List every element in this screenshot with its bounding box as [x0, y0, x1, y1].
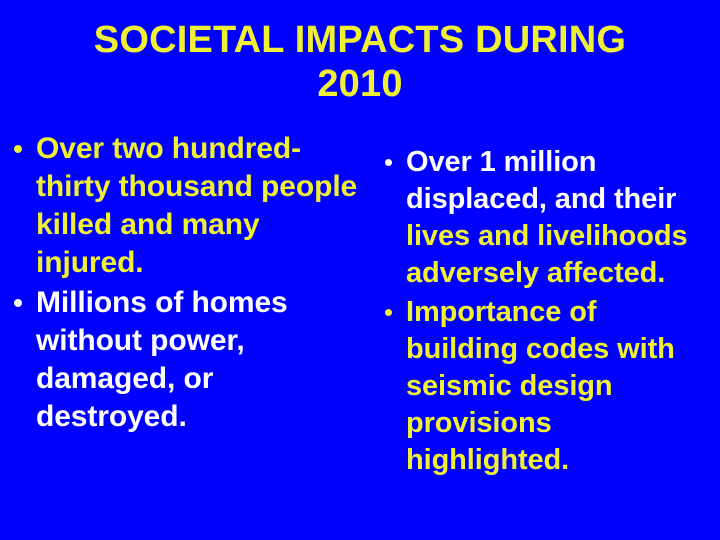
bullet-dot-icon: [14, 145, 22, 153]
list-item: Importance of building codes with seismi…: [380, 294, 716, 479]
bullet-text: Importance of building codes with seismi…: [406, 296, 675, 476]
list-item: Over two hundred-thirty thousand people …: [8, 130, 366, 282]
page-title: SOCIETAL IMPACTS DURING 2010: [40, 18, 680, 106]
presentation-slide: SOCIETAL IMPACTS DURING 2010 Over two hu…: [0, 0, 720, 540]
bullet-dot-icon: [385, 309, 392, 316]
bullet-dot-icon: [385, 159, 392, 166]
bullet-text-run-white: Over 1 million displaced, and their: [406, 146, 676, 215]
bullet-text: Over two hundred-thirty thousand people …: [36, 132, 357, 279]
bullet-text: Millions of homes without power, damaged…: [36, 286, 288, 433]
bullet-text-run-highlight: lives and livelihoods adversely affected…: [406, 220, 688, 289]
list-item: Over 1 million displaced, and their live…: [380, 144, 716, 292]
slide-body: Over two hundred-thirty thousand people …: [0, 130, 720, 481]
title-line-1: SOCIETAL IMPACTS DURING: [40, 18, 680, 62]
left-content-column: Over two hundred-thirty thousand people …: [0, 130, 372, 438]
title-line-2: 2010: [40, 62, 680, 106]
right-content-column: Over 1 million displaced, and their live…: [372, 130, 720, 481]
list-item: Millions of homes without power, damaged…: [8, 284, 366, 436]
bullet-dot-icon: [14, 299, 22, 307]
